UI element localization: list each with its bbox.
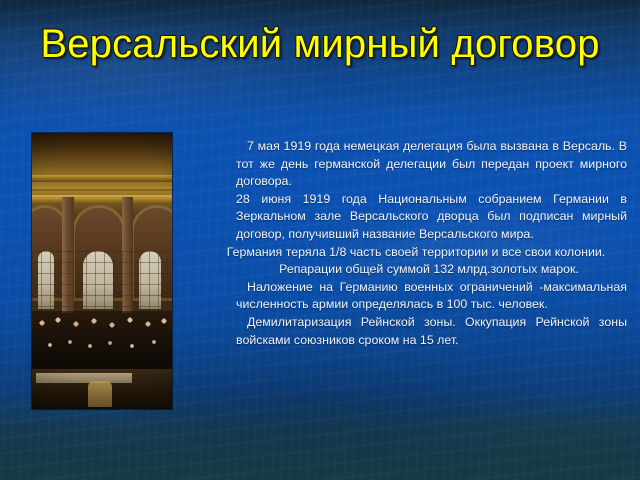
- presentation-slide: Версальский мирный договор 7 мая 1919 го…: [0, 0, 640, 480]
- body-paragraph-3: Германия теряла 1/8 часть своей территор…: [205, 244, 627, 262]
- body-paragraph-4: Репарации общей суммой 132 млрд.золотых …: [205, 261, 627, 279]
- versailles-signing-painting: [32, 133, 172, 409]
- body-paragraph-2: 28 июня 1919 года Национальным собранием…: [205, 191, 627, 244]
- slide-body-text: 7 мая 1919 года немецкая делегация была …: [205, 138, 627, 349]
- body-paragraph-6: Демилитаризация Рейнской зоны. Оккупация…: [205, 314, 627, 349]
- body-paragraph-5: Наложение на Германию военных ограничени…: [205, 279, 627, 314]
- painting-vignette: [32, 133, 172, 409]
- slide-title: Версальский мирный договор: [40, 22, 600, 66]
- body-paragraph-1: 7 мая 1919 года немецкая делегация была …: [205, 138, 627, 191]
